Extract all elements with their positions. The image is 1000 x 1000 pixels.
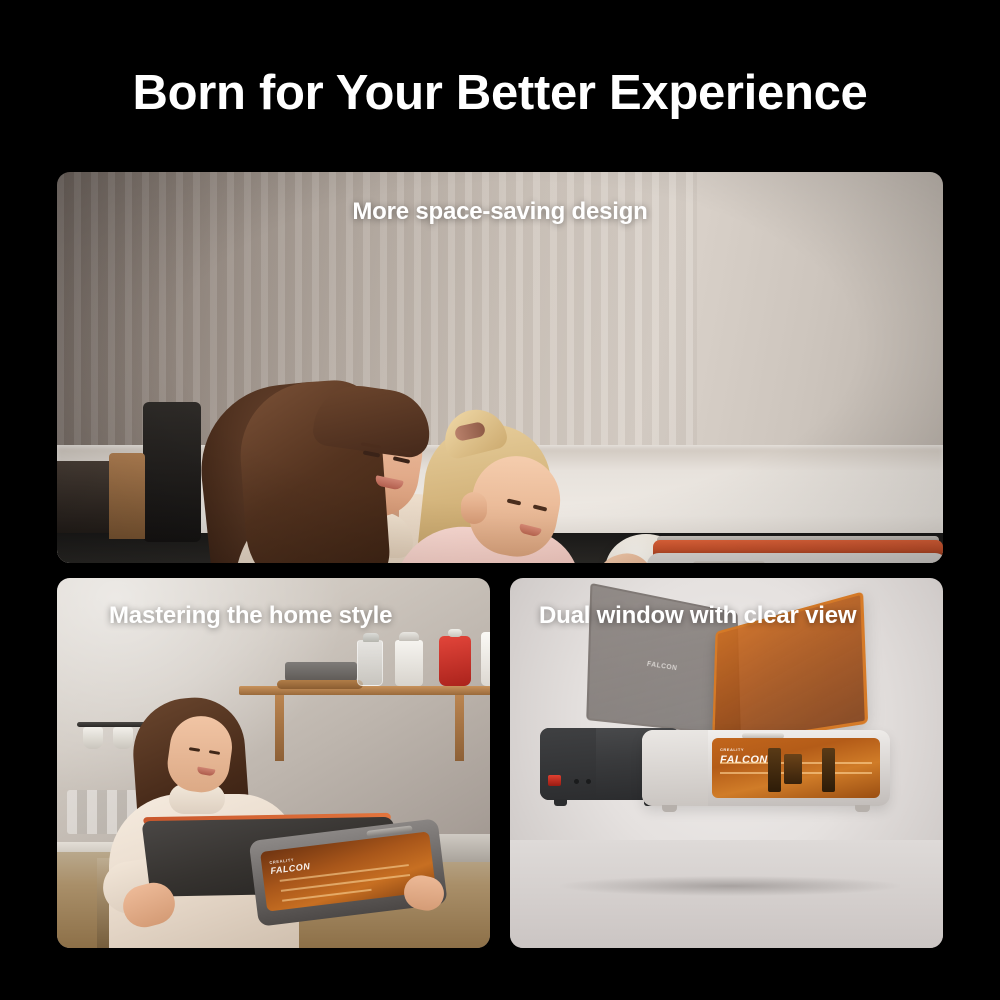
- brand-prefix: CREALITY: [720, 744, 768, 755]
- product-studio-scene: FALCON CREALITY FALCON: [510, 578, 943, 948]
- engraver-rail: [282, 889, 372, 902]
- panel-caption-home-style: Mastering the home style: [109, 602, 392, 630]
- engraver-laser-head: [784, 754, 802, 784]
- port-icon: [586, 779, 591, 784]
- engraver-foot: [855, 805, 870, 812]
- white-pitcher: [481, 632, 490, 686]
- engraver-side-panel: [540, 728, 596, 800]
- home-scene: CREALITY FALCON: [57, 578, 490, 948]
- marketing-page: Born for Your Better Experience: [0, 0, 1000, 1000]
- panel-caption-space-saving: More space-saving design: [57, 198, 943, 226]
- engraver-white-unit: CREALITY FALCON: [642, 730, 890, 806]
- panel-caption-dual-window: Dual window with clear view: [539, 602, 856, 630]
- page-title: Born for Your Better Experience: [0, 64, 1000, 122]
- feature-panel-space-saving[interactable]: More space-saving design: [57, 172, 943, 563]
- wooden-plate: [277, 680, 363, 689]
- brand-logo-falcon: CREALITY FALCON: [269, 853, 311, 876]
- engraver-side-panel: [642, 730, 708, 806]
- shelf-brace: [455, 695, 464, 761]
- hanging-mug: [83, 727, 103, 749]
- port-icon: [574, 779, 579, 784]
- engraver-gantry: [822, 748, 835, 792]
- engraver-gantry: [768, 748, 781, 792]
- vignette-overlay: [57, 172, 943, 563]
- product-shadow: [560, 876, 900, 896]
- hero-scene: [57, 172, 943, 563]
- white-canister: [395, 640, 423, 686]
- wall-shelf: [239, 686, 490, 695]
- glass-jar: [357, 640, 383, 686]
- power-switch-icon[interactable]: [548, 775, 561, 786]
- brand-name: FALCON: [720, 754, 768, 766]
- feature-panel-dual-window[interactable]: FALCON CREALITY FALCON: [510, 578, 943, 948]
- red-kettle: [439, 636, 471, 686]
- engraver-foot: [662, 805, 677, 812]
- shelf-brace: [275, 695, 284, 761]
- engraver-foot: [554, 799, 567, 806]
- engraver-amber-window: CREALITY FALCON: [712, 738, 880, 798]
- hanging-mug: [113, 727, 133, 749]
- feature-panel-home-style[interactable]: CREALITY FALCON Mastering the home style: [57, 578, 490, 948]
- brand-logo-lid: FALCON: [647, 661, 677, 673]
